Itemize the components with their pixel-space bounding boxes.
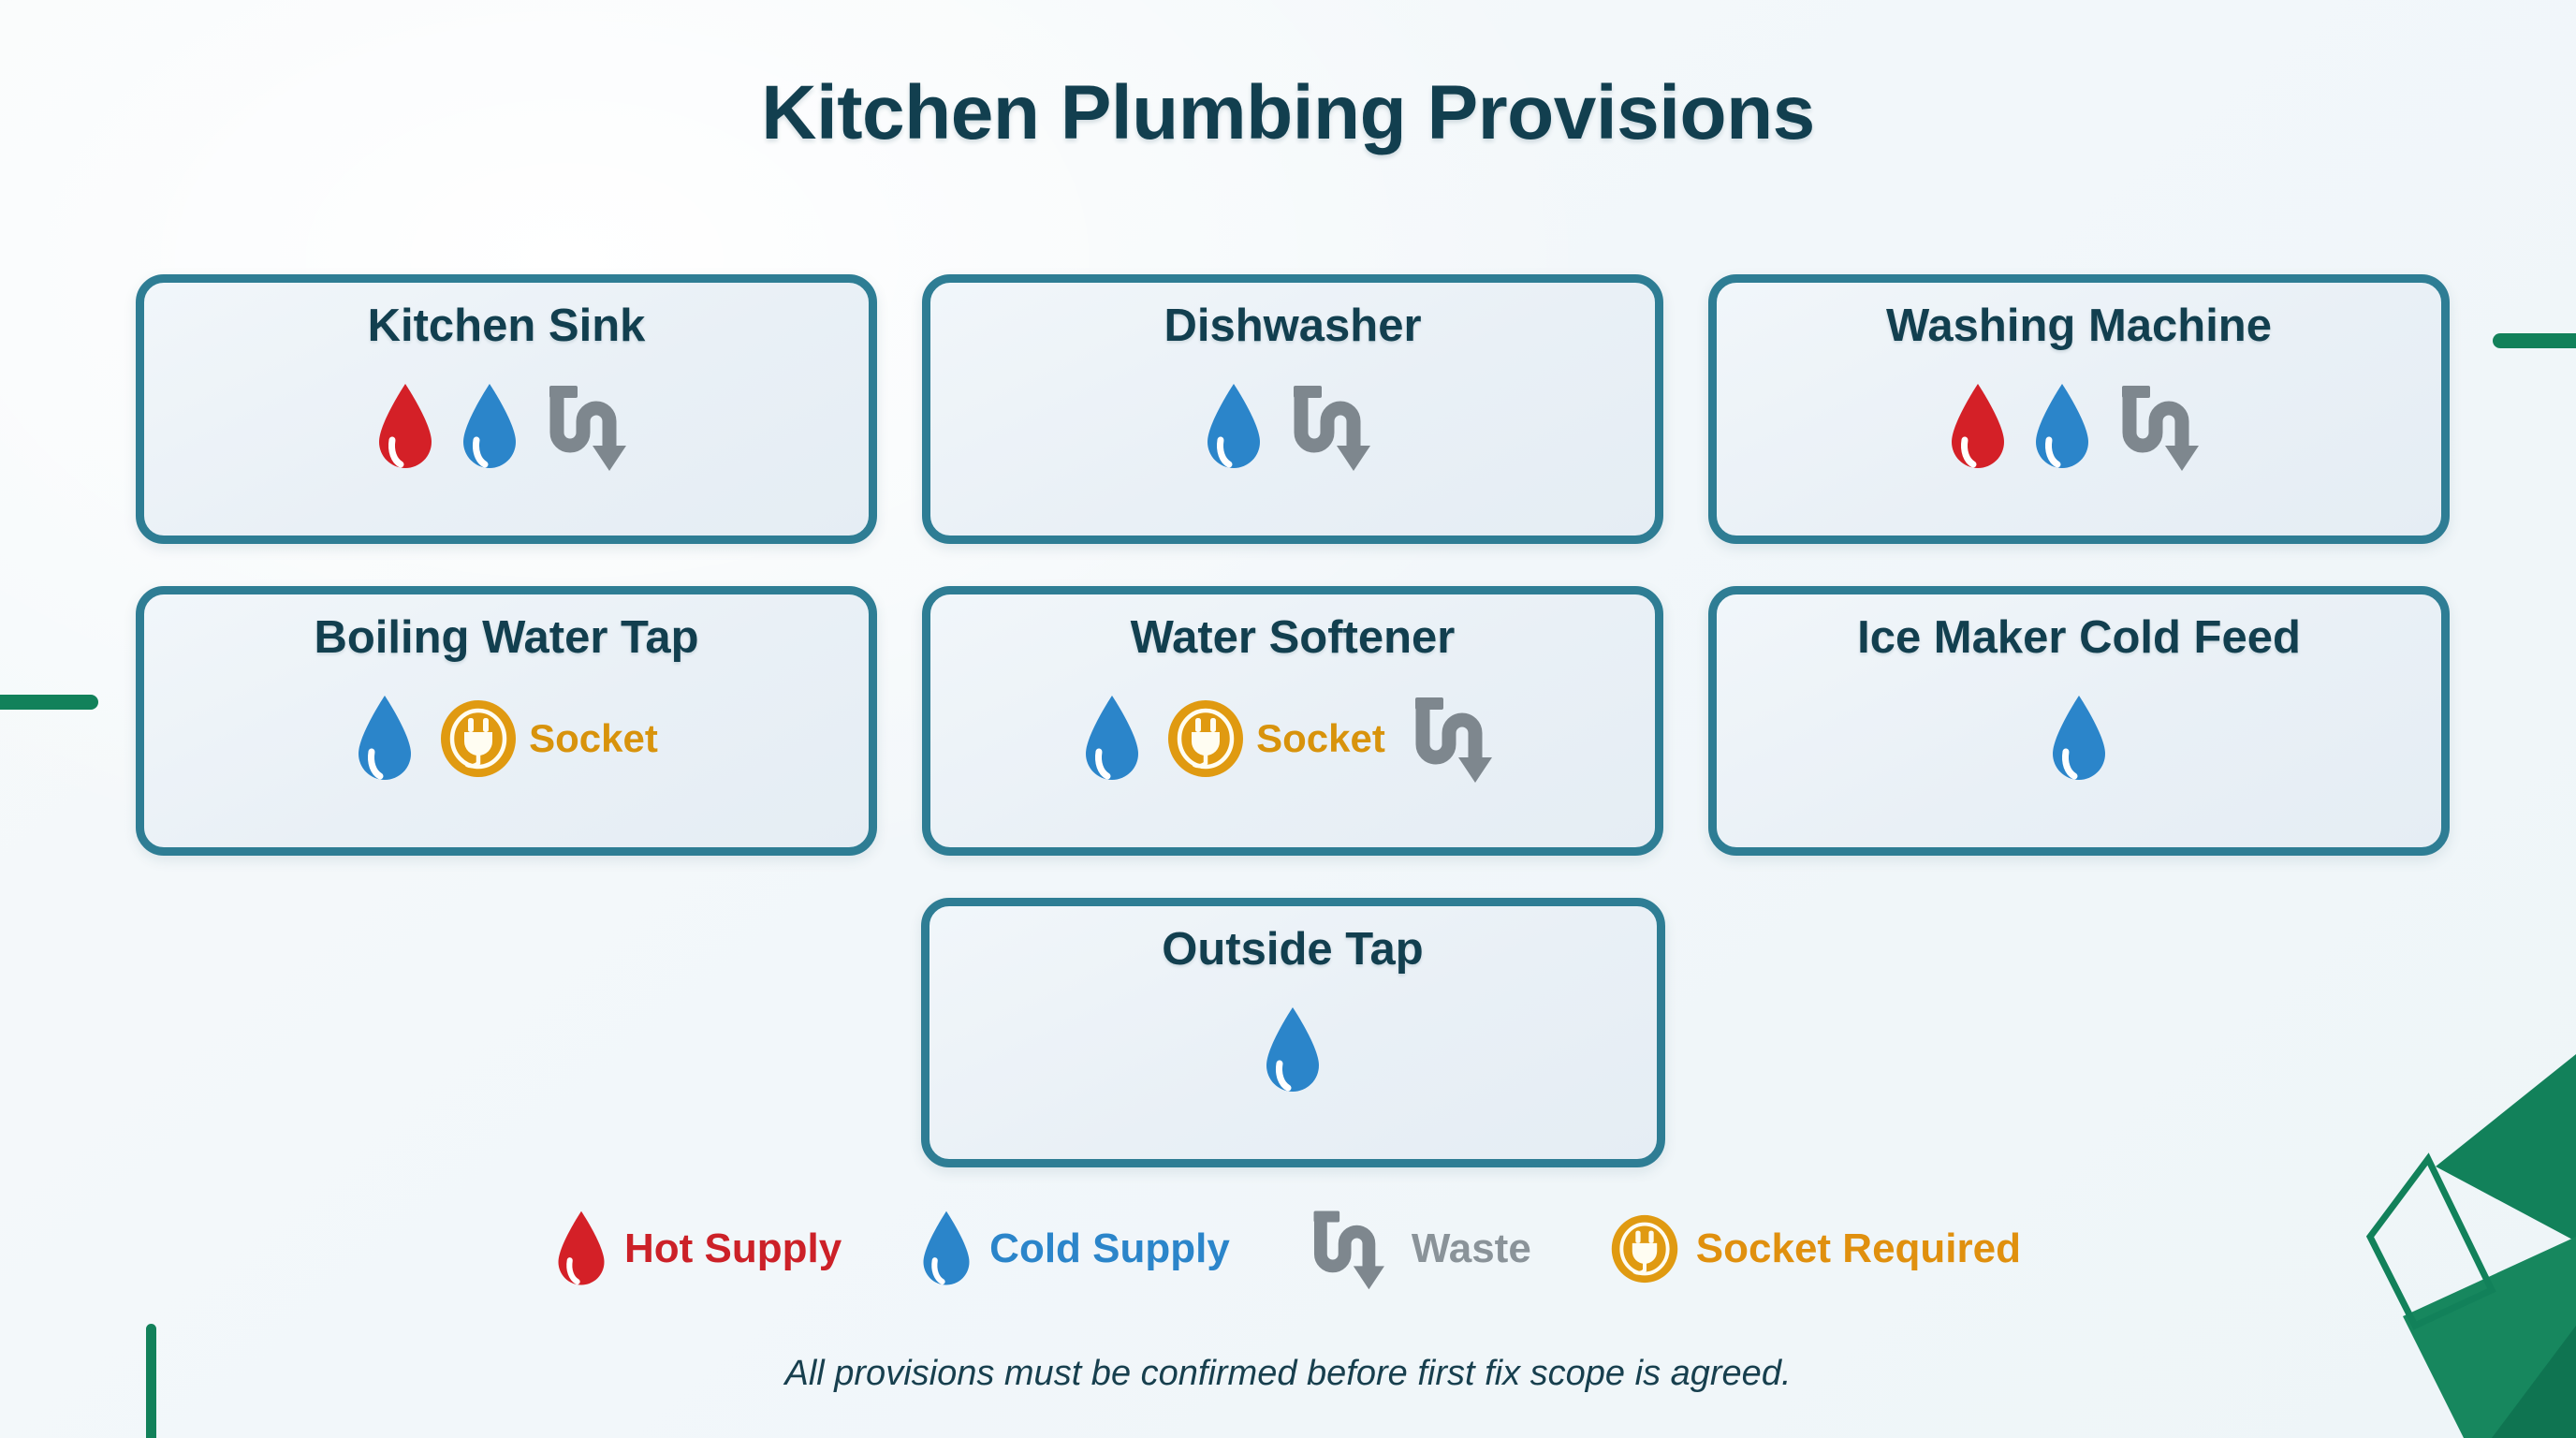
provision-card[interactable]: Washing Machine [1708, 274, 2450, 544]
provision-card-title: Water Softener [1131, 613, 1456, 663]
legend-item: Socket Required [1610, 1214, 2021, 1284]
hot-supply-drop-icon [555, 1210, 607, 1288]
provision-icon-row: Socket [1082, 683, 1503, 794]
cold-supply-drop-icon [1263, 1005, 1323, 1095]
provisions-row-2: Boiling Water Tap Socket Water Softener … [136, 586, 2450, 856]
hot-supply-drop-icon [1948, 382, 2008, 472]
provision-icon-row [375, 372, 637, 482]
provisions-row-3: Outside Tap [136, 898, 2450, 1167]
waste-trap-icon [1410, 692, 1503, 785]
waste-trap-icon [1309, 1206, 1395, 1292]
footer-note: All provisions must be confirmed before … [0, 1354, 2576, 1394]
socket-label: Socket [529, 716, 658, 761]
legend-item-label: Cold Supply [989, 1225, 1230, 1272]
cold-supply-drop-icon [1204, 382, 1264, 472]
socket-required-icon [1610, 1214, 1679, 1284]
provision-card-title: Dishwasher [1164, 301, 1421, 351]
provision-card-title: Outside Tap [1162, 925, 1424, 975]
socket-required-icon [1166, 699, 1245, 778]
provision-card-title: Kitchen Sink [368, 301, 646, 351]
legend: Hot SupplyCold SupplyWasteSocket Require… [0, 1206, 2576, 1292]
cold-supply-drop-icon [460, 382, 520, 472]
waste-trap-icon [2116, 380, 2210, 474]
page-title: Kitchen Plumbing Provisions [0, 69, 2576, 157]
legend-item-label: Waste [1412, 1225, 1531, 1272]
socket-provision-group: Socket [439, 699, 658, 778]
cold-supply-drop-icon [2032, 382, 2092, 472]
provision-icon-row: Socket [355, 683, 658, 794]
cold-supply-drop-icon [920, 1210, 973, 1288]
legend-item: Hot Supply [555, 1210, 842, 1288]
provisions-grid: Kitchen Sink Dishwasher Washing Machine … [136, 274, 2450, 1210]
provision-card[interactable]: Kitchen Sink [136, 274, 877, 544]
provision-card-title: Boiling Water Tap [314, 613, 698, 663]
left-accent-bar [0, 695, 98, 710]
infographic-canvas: Kitchen Plumbing Provisions Kitchen Sink… [0, 0, 2576, 1438]
waste-trap-icon [544, 380, 637, 474]
legend-item-label: Socket Required [1696, 1225, 2021, 1272]
cold-supply-drop-icon [1082, 694, 1142, 784]
socket-label: Socket [1256, 716, 1385, 761]
provision-icon-row [1948, 372, 2210, 482]
provision-card[interactable]: Dishwasher [922, 274, 1663, 544]
provision-icon-row [1204, 372, 1382, 482]
cold-supply-drop-icon [2049, 694, 2109, 784]
provision-card-title: Washing Machine [1886, 301, 2272, 351]
socket-required-icon [439, 699, 518, 778]
provision-card-title: Ice Maker Cold Feed [1857, 613, 2301, 663]
waste-trap-icon [1288, 380, 1382, 474]
provision-card[interactable]: Ice Maker Cold Feed [1708, 586, 2450, 856]
right-accent-bar [2493, 333, 2576, 348]
provision-card[interactable]: Boiling Water Tap Socket [136, 586, 877, 856]
socket-provision-group: Socket [1166, 699, 1385, 778]
hot-supply-drop-icon [375, 382, 435, 472]
provision-icon-row [1263, 995, 1323, 1106]
legend-item-label: Hot Supply [624, 1225, 842, 1272]
legend-item: Waste [1309, 1206, 1531, 1292]
provision-card[interactable]: Water Softener Socket [922, 586, 1663, 856]
provision-icon-row [2049, 683, 2109, 794]
provision-card[interactable]: Outside Tap [921, 898, 1665, 1167]
legend-item: Cold Supply [920, 1210, 1230, 1288]
cold-supply-drop-icon [355, 694, 415, 784]
provisions-row-1: Kitchen Sink Dishwasher Washing Machine [136, 274, 2450, 544]
